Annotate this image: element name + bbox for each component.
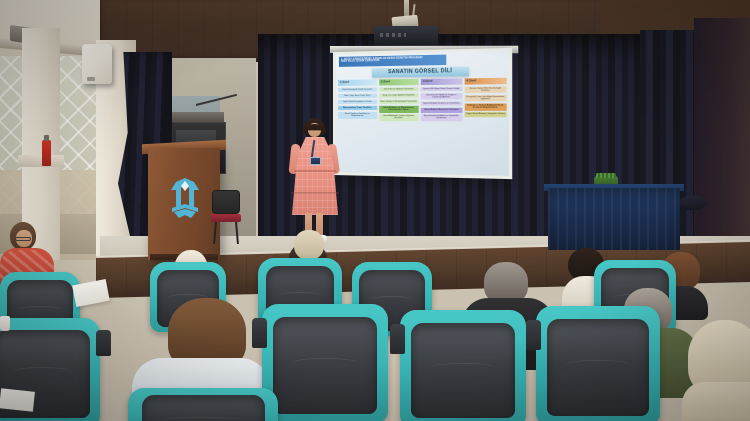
head-table [548, 188, 680, 250]
slide-box: Renk, Ton, Doku İlişkilerini Keşfetme [379, 93, 419, 98]
slide-box: Sanat Yapıtlarını İnceleme ve Değerlendi… [338, 112, 377, 119]
slide-box: Görsel Anlatım Becerileri Geliştirme [421, 108, 462, 113]
slide-box: Kültürel ve Tarihsel Bağlamda Sanat Eser… [464, 103, 507, 110]
seat-armrest[interactable] [96, 330, 111, 356]
beige-headscarf-person [688, 320, 750, 421]
slide-box: Sanat Eserlerinde Anlam ve Sembolleri Çö… [421, 114, 462, 121]
slide-box: Sanat Eserlerini İnceleme ve Yorumlama [421, 101, 462, 106]
slide-box: Renk Kullanımı ve Kompozisyon Düzenlemel… [379, 106, 419, 113]
slide-box: Temel Sanat Kavramlarını Tanıma [338, 100, 377, 105]
slide-box: Görsel Sanat Öğeleri ile Duygu ve Düşünc… [421, 93, 462, 100]
projection-screen: 1. DÜZEY SANAT/GÖRSEL SANATLAR DERSİ ÖĞR… [333, 48, 512, 179]
auditorium-seat[interactable] [262, 304, 388, 421]
slide-header: 1. DÜZEY SANAT/GÖRSEL SANATLAR DERSİ ÖĞR… [339, 55, 446, 67]
column-header-grade2: 2.Sınıf [379, 79, 419, 86]
podium-emblem-icon [168, 176, 202, 220]
slide-box: Sanatın Dili: Biçim, Renk, Desen, Denge [421, 86, 462, 91]
slide-box: Renk, Çizgi, Biçim, Doku, Form [338, 93, 377, 98]
slide-title: SANATIN GÖRSEL DİLİ [372, 67, 469, 78]
slide-column-grade2: 2.Sınıf Görsel Sanat Öğelerini Tanımlama… [379, 79, 419, 172]
slide-columns: 1.Sınıf Görsel Sanatlarda Temel Kavramla… [338, 78, 507, 174]
dress-tier-seam [294, 170, 336, 172]
wall-speaker-icon [82, 44, 112, 84]
slide-box: Görsel Sanat Öğelerini Tanımlama [379, 87, 419, 92]
column-header-grade1: 1.Sınıf [338, 79, 377, 86]
slide-column-grade3: 3.Sınıf Sanatın Dili: Biçim, Renk, Desen… [421, 78, 462, 172]
projector-icon [374, 26, 438, 48]
stage-curtain-far-right [694, 18, 750, 268]
presenter-badge [310, 157, 321, 165]
auditorium-seat[interactable] [400, 310, 526, 421]
slide-box: Özgün Görsel Anlatım Çalışmaları Üretme [464, 112, 507, 117]
conference-hall-photo: 1. DÜZEY SANAT/GÖRSEL SANATLAR DERSİ ÖĞR… [0, 0, 750, 421]
seat-armrest[interactable] [390, 324, 405, 354]
av-equipment-top [172, 112, 224, 122]
column-cap [18, 155, 64, 167]
eyeglasses-icon [15, 237, 31, 241]
auditorium-seat[interactable] [536, 306, 660, 421]
slide-box: Görsel Anlatımda Yaratıcı Düşünme Beceri… [379, 114, 419, 121]
slide-box: Sanatın Görsel Dilini İleri Düzeyde Kavr… [464, 86, 507, 93]
dress-tier-seam [291, 192, 339, 194]
slide-column-grade1: 1.Sınıf Görsel Sanatlarda Temel Kavramla… [338, 79, 377, 170]
fire-extinguisher-icon [42, 140, 51, 166]
slide-column-grade4: 4.Sınıf Sanatın Görsel Dilini İleri Düze… [464, 78, 507, 174]
presenter [288, 118, 340, 246]
seat-armrest[interactable] [252, 318, 267, 348]
presentation-slide: 1. DÜZEY SANAT/GÖRSEL SANATLAR DERSİ ÖĞR… [336, 51, 509, 176]
slide-box: Görsel Sanatlarda Temel Kavramlar [338, 87, 377, 92]
column-header-grade4: 4.Sınıf [464, 78, 507, 85]
handout-papers [0, 388, 35, 411]
seat-armrest[interactable] [526, 320, 541, 350]
curtain-tieback [680, 196, 706, 210]
slide-box: Biçimlendirme Temel Teknikleri [338, 106, 377, 111]
column-header-grade3: 3.Sınıf [421, 78, 462, 85]
slide-box: Perspektif, Oran, Işık-Gölge Kavramların… [464, 95, 507, 102]
slide-box: Biçim, Denge ve Kompozisyon Kavramları [379, 99, 419, 104]
auditorium-seat[interactable] [128, 388, 278, 421]
coffee-cup [0, 316, 10, 331]
